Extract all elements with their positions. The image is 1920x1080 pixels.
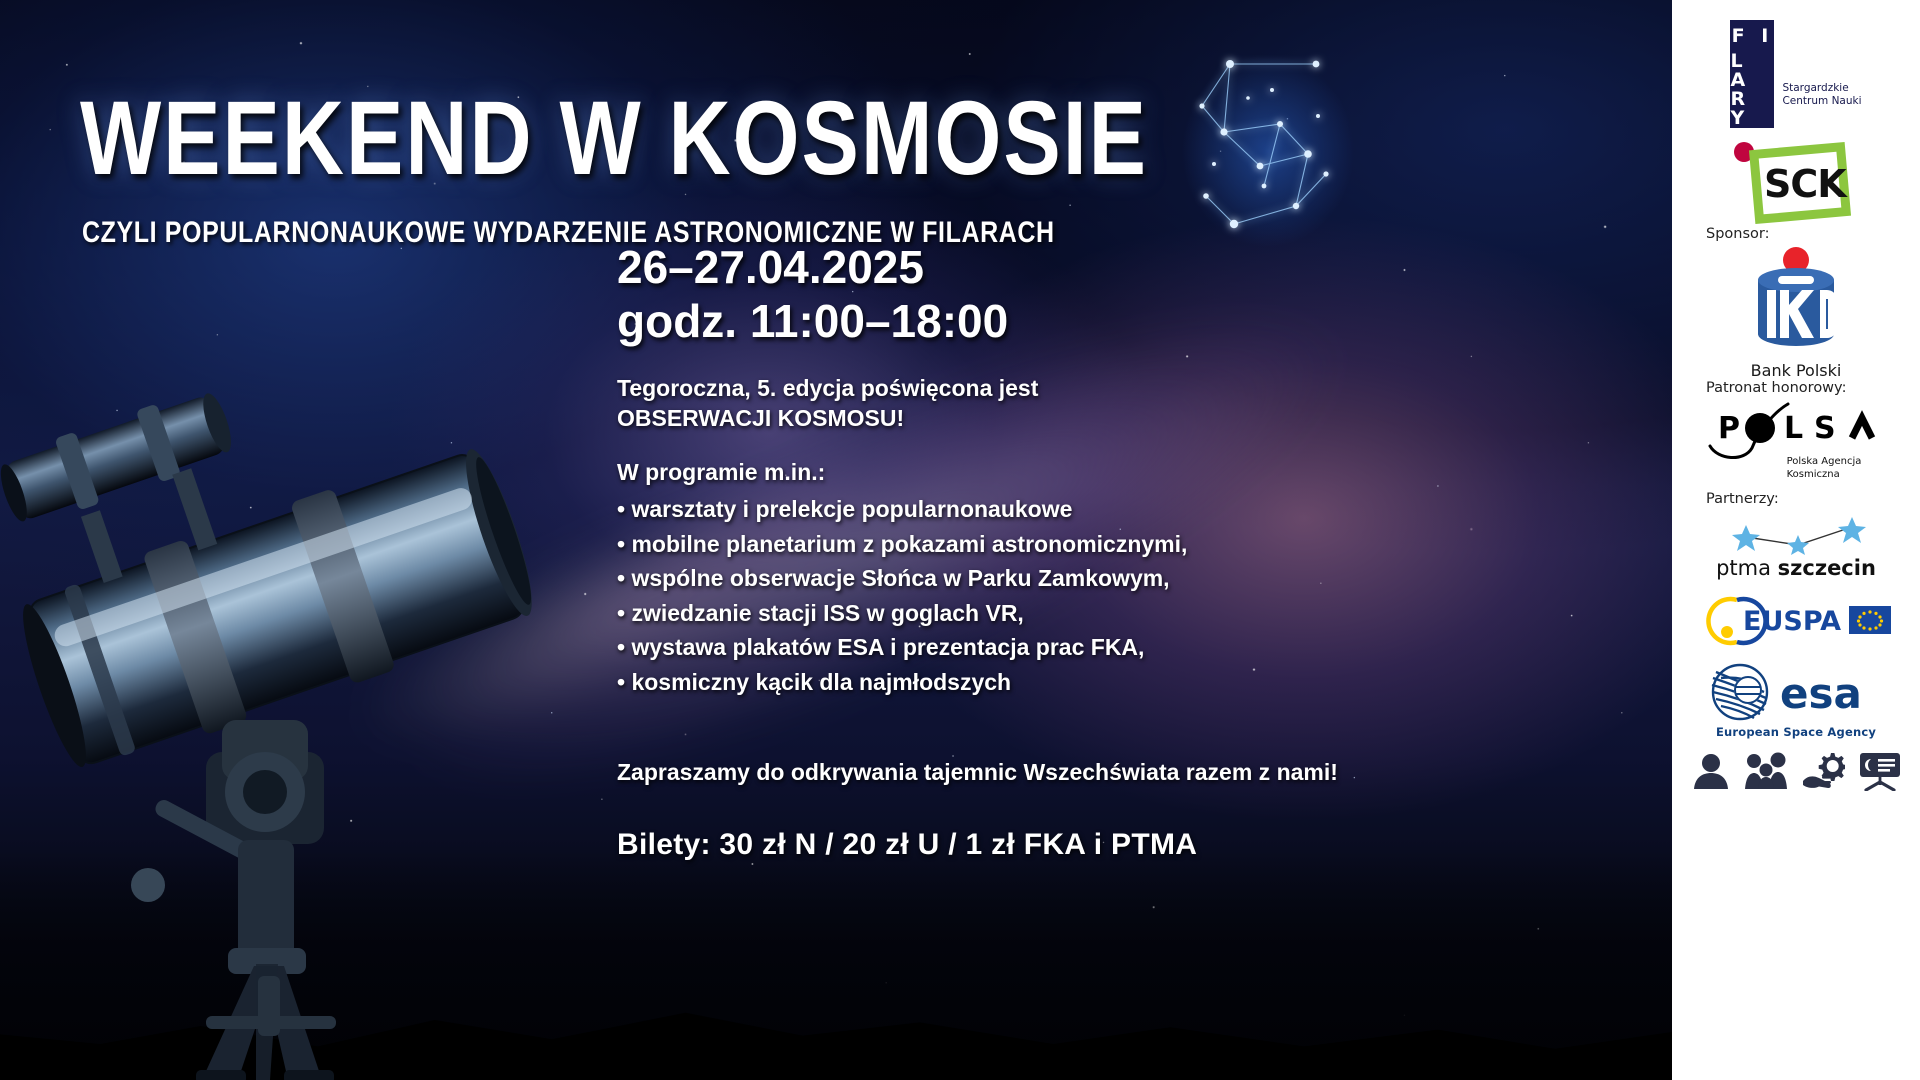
ptma-logo: ptma szczecin — [1706, 513, 1886, 580]
polsa-mark-icon: P L S — [1696, 398, 1896, 460]
poster-root: WEEKEND W KOSMOSIE CZYLI POPULARNONAUKOW… — [0, 0, 1920, 1080]
svg-text:EUSPA: EUSPA — [1743, 606, 1841, 637]
edition-lead-line2: OBSERWACJI KOSMOSU! — [617, 403, 1417, 433]
esa-caption: European Space Agency — [1716, 725, 1876, 739]
ptma-stars-icon — [1706, 513, 1886, 555]
ptma-wordmark-light: ptma — [1716, 556, 1771, 580]
list-item: • zwiedzanie stacji ISS w goglach VR, — [617, 596, 1417, 631]
polsa-logo: P L S — [1696, 398, 1896, 460]
person-icon — [1691, 751, 1731, 791]
list-item: • wspólne obserwacje Słońca w Parku Zamk… — [617, 561, 1417, 596]
presentation-board-icon — [1858, 751, 1902, 791]
ptma-wordmark-bold: szczecin — [1778, 556, 1876, 580]
esa-logo: esa — [1696, 660, 1896, 724]
filary-mark-row1: F I — [1732, 27, 1774, 46]
space-artwork-panel: WEEKEND W KOSMOSIE CZYLI POPULARNONAUKOW… — [0, 0, 1672, 1080]
svg-text:L: L — [1784, 411, 1803, 446]
filary-logo: F I L A R Y Stargardzkie Centrum Nauki — [1730, 20, 1861, 128]
filary-caption-line1: Stargardzkie — [1782, 82, 1861, 95]
program-list: • warsztaty i prelekcje popularnonaukowe… — [617, 492, 1417, 699]
svg-text:P: P — [1718, 411, 1740, 446]
family-group-icon — [1744, 751, 1788, 791]
sck-wordmark: SCK — [1764, 162, 1846, 206]
sponsor-label: Sponsor: — [1706, 226, 1770, 242]
sck-logo: SCK — [1730, 140, 1862, 226]
list-item: • wystawa plakatów ESA i prezentacja pra… — [617, 630, 1417, 665]
euspa-logo: EUSPA — [1697, 592, 1895, 650]
polsa-caption-line1: Polska Agencja — [1787, 456, 1862, 469]
patronage-label: Patronat honorowy: — [1706, 380, 1846, 396]
ptma-wordmark: ptma szczecin — [1706, 556, 1886, 580]
list-item: • warsztaty i prelekcje popularnonaukowe — [617, 492, 1417, 527]
poster-content-column: 26–27.04.2025 godz. 11:00–18:00 Tegorocz… — [617, 240, 1417, 862]
event-hours: godz. 11:00–18:00 — [617, 294, 1417, 348]
esa-mark-icon: esa — [1696, 660, 1896, 724]
pko-caption: Bank Polski — [1736, 361, 1856, 380]
pko-logo: Bank Polski — [1736, 246, 1856, 380]
closing-invitation: Zapraszamy do odkrywania tajemnic Wszech… — [617, 759, 1417, 786]
telescope-illustration — [0, 300, 690, 1080]
polsa-caption: Polska Agencja Kosmiczna — [1787, 456, 1862, 481]
filary-mark: F I L A R Y — [1730, 20, 1774, 128]
edition-lead: Tegoroczna, 5. edycja poświęcona jest OB… — [617, 373, 1417, 434]
filary-caption-line2: Centrum Nauki — [1782, 95, 1861, 108]
hand-gear-icon — [1801, 751, 1845, 791]
program-title: W programie m.in.: — [617, 459, 1417, 486]
polsa-caption-line2: Kosmiczna — [1787, 469, 1862, 482]
partners-label: Partnerzy: — [1706, 491, 1779, 507]
svg-text:S: S — [1814, 411, 1836, 446]
audience-icon-row — [1691, 751, 1902, 791]
filary-mark-row3: R Y — [1730, 90, 1774, 128]
euspa-mark-icon: EUSPA — [1697, 592, 1895, 650]
list-item: • mobilne planetarium z pokazami astrono… — [617, 527, 1417, 562]
filary-mark-row2: L A — [1730, 52, 1774, 90]
event-date: 26–27.04.2025 — [617, 240, 1417, 294]
filary-caption: Stargardzkie Centrum Nauki — [1782, 82, 1861, 109]
poster-headline: WEEKEND W KOSMOSIE — [80, 86, 1200, 191]
list-item: • kosmiczny kącik dla najmłodszych — [617, 665, 1417, 700]
ticket-prices: Bilety: 30 zł N / 20 zł U / 1 zł FKA i P… — [617, 828, 1417, 862]
sponsor-logo-rail: F I L A R Y Stargardzkie Centrum Nauki S… — [1672, 0, 1920, 1080]
svg-text:esa: esa — [1780, 669, 1862, 718]
pko-mark-icon — [1736, 246, 1856, 354]
edition-lead-line1: Tegoroczna, 5. edycja poświęcona jest — [617, 373, 1417, 403]
